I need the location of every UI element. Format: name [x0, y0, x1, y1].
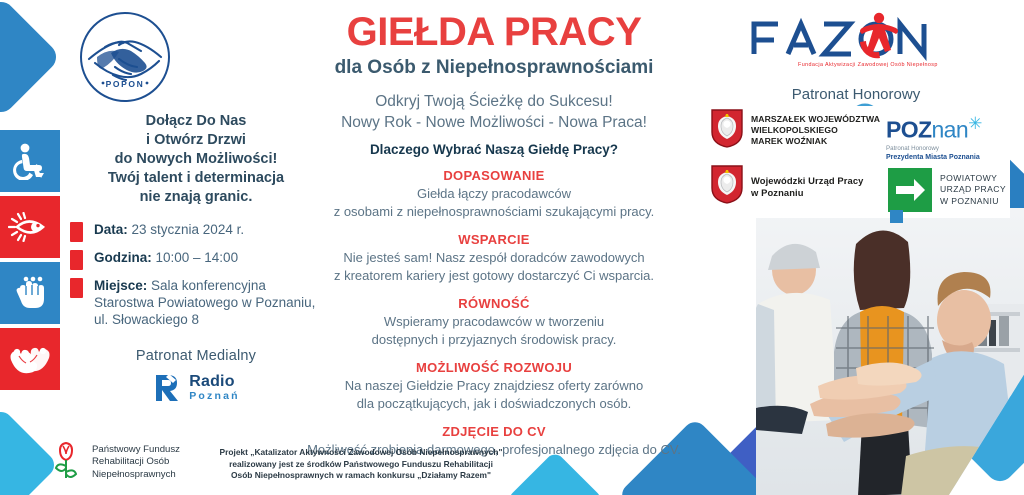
pup-text: POWIATOWY URZĄD PRACY W POZNANIU: [940, 173, 1006, 208]
radio-poznan-mark: [152, 373, 182, 403]
benefit-heading: ZDJĘCIE DO CV: [288, 424, 700, 439]
svg-text:POPON: POPON: [106, 79, 145, 89]
center-content-column: GIEŁDA PRACY dla Osób z Niepełnosprawnoś…: [288, 10, 700, 459]
pup-line-3: W POZNANIU: [940, 196, 1006, 208]
page-title: GIEŁDA PRACY: [288, 10, 700, 54]
benefit-body-line-2: dla początkujących, jak i doświadczonych…: [288, 395, 700, 413]
benefit-body-line-2: dostępnych i przyjaznych środowisk pracy…: [288, 331, 700, 349]
benefit-section-wsparcie: WSPARCIE Nie jesteś sam! Nasz zespół dor…: [288, 232, 700, 285]
benefit-body-line-1: Wspieramy pracodawców w tworzeniu: [288, 313, 700, 331]
asterisk-icon: ✳: [968, 114, 982, 133]
patron-marszalek-wielkopolskiego: MARSZAŁEK WOJEWÓDZTWA WIELKOPOLSKIEGO MA…: [710, 108, 880, 153]
sign-language-hands-icon: [0, 328, 60, 390]
benefit-heading: WSPARCIE: [288, 232, 700, 247]
benefit-heading: RÓWNOŚĆ: [288, 296, 700, 311]
benefit-section-mozliwosc-rozwoju: MOŻLIWOŚĆ ROZWOJU Na naszej Giełdzie Pra…: [288, 360, 700, 413]
detail-value-date: 23 stycznia 2024 r.: [128, 222, 244, 237]
radio-poznan-logo: Radio Poznań: [66, 373, 326, 403]
pup-line-2: URZĄD PRACY: [940, 184, 1006, 196]
join-us-message: Dołącz Do Nas i Otwórz Drzwi do Nowych M…: [66, 112, 326, 207]
patron-line-2: WIELKOPOLSKIEGO: [751, 125, 880, 136]
low-vision-eye-icon: [0, 196, 60, 258]
patron-line-1: Wojewódzki Urząd Pracy: [751, 175, 863, 187]
decorative-diamond-top-left: [0, 0, 62, 118]
benefit-body-line-2: z kreatorem kariery jest gotowy dostarcz…: [288, 267, 700, 285]
detail-value-time: 10:00 – 14:00: [152, 250, 238, 265]
page-subtitle: dla Osób z Niepełnosprawnościami: [288, 56, 700, 79]
green-arrow-icon: [888, 168, 932, 212]
benefit-body-line-1: Na naszej Giełdzie Pracy znajdziesz ofer…: [288, 377, 700, 395]
join-line-2: i Otwórz Drzwi: [66, 131, 326, 150]
team-hands-together-photo: [756, 208, 1024, 495]
accessibility-icon-strip: [0, 130, 60, 394]
poznan-nan: nan: [931, 117, 968, 143]
patron-marszalek-text: MARSZAŁEK WOJEWÓDZTWA WIELKOPOLSKIEGO MA…: [751, 114, 880, 147]
tagline: Odkryj Twoją Ścieżkę do Sukcesu! Nowy Ro…: [288, 91, 700, 133]
benefit-section-rownosc: RÓWNOŚĆ Wspieramy pracodawców w tworzeni…: [288, 296, 700, 349]
patron-line-2: w Poznaniu: [751, 187, 863, 199]
detail-label-place: Miejsce:: [94, 278, 147, 293]
project-funding-note: Projekt „Katalizator Aktywności Zawodowe…: [196, 447, 526, 482]
radio-poznan-wordmark: Radio Poznań: [189, 374, 240, 402]
event-details-list: Data: 23 stycznia 2024 r. Godzina: 10:00…: [66, 221, 326, 328]
wielkopolska-coat-of-arms-icon: [710, 164, 744, 209]
pfron-line-1: Państwowy Fundusz: [92, 444, 180, 457]
pfron-logo: Państwowy Fundusz Rehabilitacji Osób Nie…: [50, 440, 180, 485]
pup-line-1: POWIATOWY: [940, 173, 1006, 185]
benefit-section-dopasowanie: DOPASOWANIE Giełda łączy pracodawców z o…: [288, 168, 700, 221]
project-note-line-1: Projekt „Katalizator Aktywności Zawodowe…: [196, 447, 526, 459]
poznan-sub-line-2: Prezydenta Miasta Poznania: [886, 153, 1006, 162]
media-patronage-title: Patronat Medialny: [66, 348, 326, 364]
benefit-body-line-2: z osobami z niepełnosprawnościami szukaj…: [288, 203, 700, 221]
join-line-1: Dołącz Do Nas: [66, 112, 326, 131]
powiatowy-urzad-pracy-logo: POWIATOWY URZĄD PRACY W POZNANIU: [888, 168, 1006, 212]
bullet-marker-date: [70, 222, 83, 242]
poster-canvas: POPON: [0, 0, 1024, 495]
benefit-body-line-1: Giełda łączy pracodawców: [288, 185, 700, 203]
benefit-body: Na naszej Giełdzie Pracy znajdziesz ofer…: [288, 377, 700, 413]
poznan-sub-line-1: Patronat Honorowy: [886, 145, 1006, 153]
benefit-body: Giełda łączy pracodawców z osobami z nie…: [288, 185, 700, 221]
tulip-icon: [50, 440, 84, 485]
bullet-marker-place: [70, 278, 83, 298]
benefit-heading: MOŻLIWOŚĆ ROZWOJU: [288, 360, 700, 375]
join-line-4: Twój talent i determinacja: [66, 169, 326, 188]
fazon-logo: Fundacja Aktywizacji Zawodowej Osób Niep…: [748, 8, 938, 70]
benefit-heading: DOPASOWANIE: [288, 168, 700, 183]
poznan-wordmark: POZnan✳: [886, 112, 1006, 142]
popon-logo: POPON: [75, 7, 175, 107]
wheelchair-icon: [0, 130, 60, 192]
pfron-text: Państwowy Fundusz Rehabilitacji Osób Nie…: [92, 444, 180, 482]
pfron-line-3: Niepełnosprawnych: [92, 469, 180, 482]
tagline-line-2: Nowy Rok - Nowe Możliwości - Nowa Praca!: [288, 112, 700, 133]
patron-line-1: MARSZAŁEK WOJEWÓDZTWA: [751, 114, 880, 125]
patron-line-3: MAREK WOŹNIAK: [751, 136, 880, 147]
detail-label-time: Godzina:: [94, 250, 152, 265]
blue-corner-accent: [890, 210, 903, 223]
benefit-body-line-1: Nie jesteś sam! Nasz zespół doradców zaw…: [288, 249, 700, 267]
join-line-3: do Nowych Możliwości!: [66, 150, 326, 169]
left-info-column: Dołącz Do Nas i Otwórz Drzwi do Nowych M…: [66, 112, 326, 403]
benefit-body: Wspieramy pracodawców w tworzeniu dostęp…: [288, 313, 700, 349]
patron-wojewodzki-urzad-pracy: Wojewódzki Urząd Pracy w Poznaniu: [710, 164, 863, 209]
bullet-marker-time: [70, 250, 83, 270]
tagline-line-1: Odkryj Twoją Ścieżkę do Sukcesu!: [288, 91, 700, 112]
join-line-5: nie znają granic.: [66, 188, 326, 207]
braille-hand-icon: [0, 262, 60, 324]
wielkopolska-coat-of-arms-icon: [710, 108, 744, 153]
radio-label: Radio: [189, 374, 240, 390]
pfron-line-2: Rehabilitacji Osób: [92, 456, 180, 469]
project-note-line-3: Osób Niepełnosprawnych w ramach konkursu…: [196, 470, 526, 482]
honorary-patronage-title: Patronat Honorowy: [706, 86, 1006, 103]
poznan-poz: POZ: [886, 117, 931, 143]
patron-wup-text: Wojewódzki Urząd Pracy w Poznaniu: [751, 175, 863, 199]
detail-label-date: Data:: [94, 222, 128, 237]
why-choose-us-question: Dlaczego Wybrać Naszą Giełdę Pracy?: [288, 142, 700, 157]
fazon-tagline: Fundacja Aktywizacji Zawodowej Osób Niep…: [798, 62, 938, 68]
benefit-body: Nie jesteś sam! Nasz zespół doradców zaw…: [288, 249, 700, 285]
poznan-city-logo: POZnan✳ Patronat Honorowy Prezydenta Mia…: [886, 112, 1006, 162]
poznan-label: Poznań: [189, 391, 240, 402]
project-note-line-2: realizowany jest ze środków Państwowego …: [196, 459, 526, 471]
